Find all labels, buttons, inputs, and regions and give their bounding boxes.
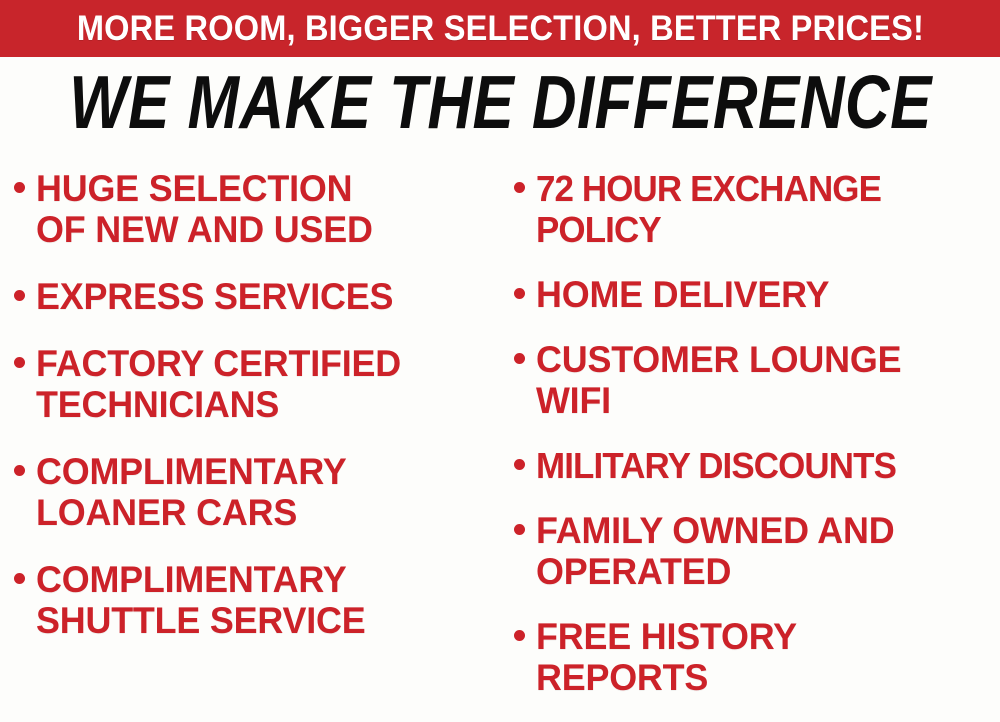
list-item: COMPLIMENTARY SHUTTLE SERVICE <box>14 559 500 641</box>
bullet-dot-icon <box>14 465 25 476</box>
bullet-dot-icon <box>514 630 525 641</box>
bullet-dot-icon <box>14 290 25 301</box>
list-item: FACTORY CERTIFIED TECHNICIANS <box>14 343 500 425</box>
bullet-dot-icon <box>14 573 25 584</box>
promo-banner-text: MORE ROOM, BIGGER SELECTION, BETTER PRIC… <box>76 11 923 46</box>
list-item: HUGE SELECTION OF NEW AND USED <box>14 168 500 250</box>
headline-text: WE MAKE THE DIFFERENCE <box>69 66 932 141</box>
list-item: EXPRESS SERVICES <box>14 276 500 317</box>
list-item: HOME DELIVERY <box>514 274 1000 315</box>
benefits-column-right: 72 HOUR EXCHANGE POLICY HOME DELIVERY CU… <box>500 158 1000 722</box>
list-item: COMPLIMENTARY LOANER CARS <box>14 451 500 533</box>
list-item-label: FACTORY CERTIFIED TECHNICIANS <box>36 343 401 425</box>
list-item-label: HOME DELIVERY <box>536 274 829 315</box>
benefits-column-left: HUGE SELECTION OF NEW AND USED EXPRESS S… <box>0 158 500 667</box>
headline: WE MAKE THE DIFFERENCE <box>0 63 1000 143</box>
list-item-label: MILITARY DISCOUNTS <box>536 445 896 486</box>
list-item-label: COMPLIMENTARY LOANER CARS <box>36 451 347 533</box>
promo-banner: MORE ROOM, BIGGER SELECTION, BETTER PRIC… <box>0 0 1000 57</box>
list-item: FREE HISTORY REPORTS <box>514 616 1000 698</box>
list-item-label: HUGE SELECTION OF NEW AND USED <box>36 168 373 250</box>
bullet-dot-icon <box>514 459 525 470</box>
advertisement-banner: MORE ROOM, BIGGER SELECTION, BETTER PRIC… <box>0 0 1000 694</box>
bullet-dot-icon <box>514 524 525 535</box>
list-item: 72 HOUR EXCHANGE POLICY <box>514 168 1000 250</box>
list-item: FAMILY OWNED AND OPERATED <box>514 510 1000 592</box>
bullet-dot-icon <box>14 357 25 368</box>
benefits-columns: HUGE SELECTION OF NEW AND USED EXPRESS S… <box>0 158 1000 694</box>
list-item-label: CUSTOMER LOUNGE WIFI <box>536 339 901 421</box>
list-item-label: FREE HISTORY REPORTS <box>536 616 797 698</box>
list-item-label: EXPRESS SERVICES <box>36 276 393 317</box>
bullet-dot-icon <box>514 353 525 364</box>
list-item: CUSTOMER LOUNGE WIFI <box>514 339 1000 421</box>
list-item-label: COMPLIMENTARY SHUTTLE SERVICE <box>36 559 365 641</box>
list-item-label: FAMILY OWNED AND OPERATED <box>536 510 894 592</box>
list-item: MILITARY DISCOUNTS <box>514 445 1000 486</box>
bullet-dot-icon <box>514 182 525 193</box>
bullet-dot-icon <box>514 288 525 299</box>
bullet-dot-icon <box>14 182 25 193</box>
list-item-label: 72 HOUR EXCHANGE POLICY <box>536 168 881 250</box>
